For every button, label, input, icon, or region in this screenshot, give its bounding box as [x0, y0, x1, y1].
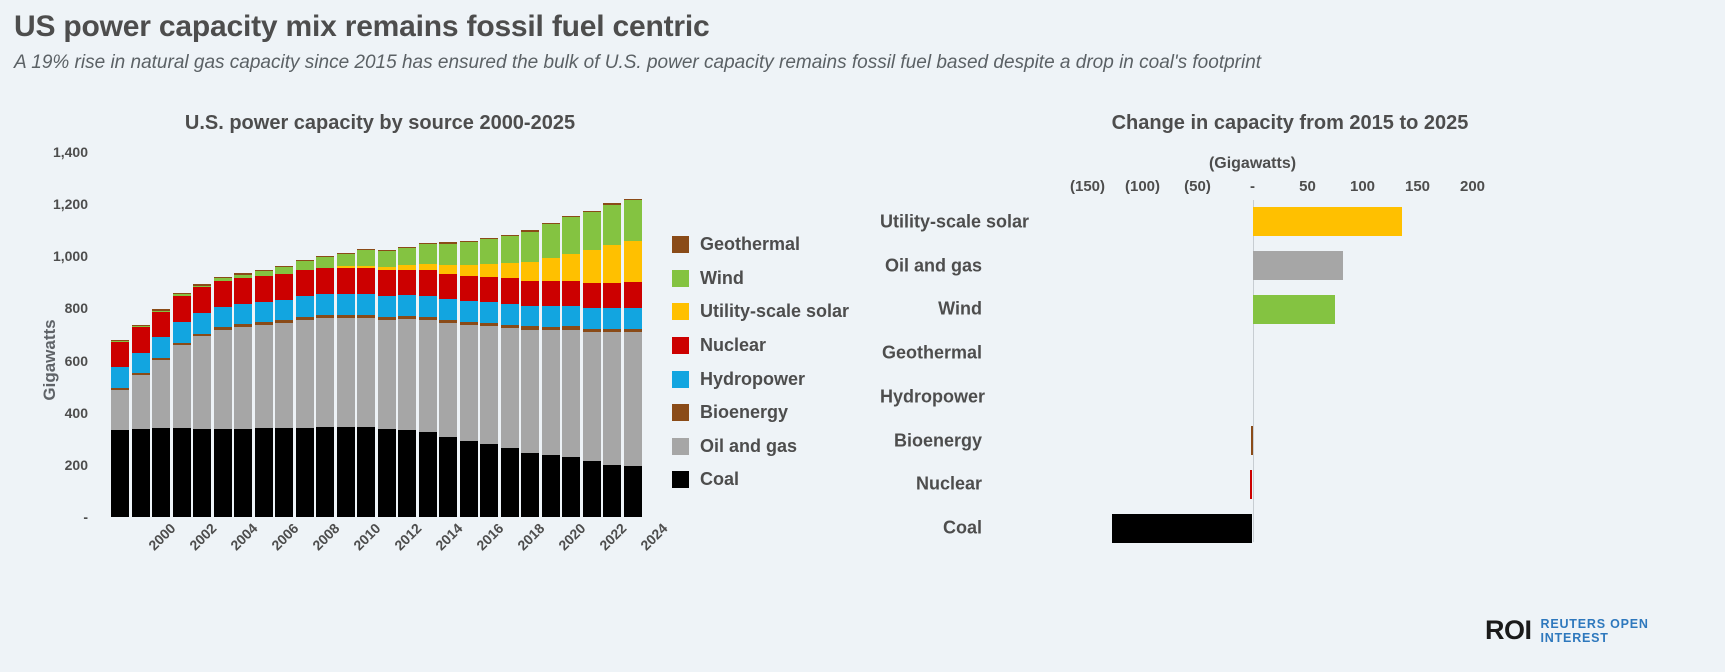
- bar-segment-nuclear: [337, 268, 355, 294]
- bar-segment-wind: [419, 244, 437, 263]
- bar-segment-coal: [439, 437, 457, 517]
- bar-segment-nuclear: [255, 276, 273, 302]
- y-tick-label: 800: [18, 300, 88, 316]
- category-label: Hydropower: [880, 386, 982, 407]
- bar-segment-oil-and-gas: [296, 320, 314, 428]
- bar-segment-wind: [357, 250, 375, 266]
- legend-item[interactable]: Geothermal: [672, 228, 849, 262]
- bar-segment-hydropower: [357, 294, 375, 315]
- y-tick-label: 400: [18, 405, 88, 421]
- bar-segment-hydropower: [439, 299, 457, 320]
- stacked-bar: [439, 152, 457, 517]
- stacked-bar: [521, 152, 539, 517]
- bar-segment-wind: [193, 286, 211, 288]
- right-tick-label: (50): [1184, 178, 1211, 195]
- bar-segment-bioenergy: [521, 326, 539, 329]
- bar-segment-hydropower: [296, 296, 314, 317]
- bar-segment-coal: [562, 457, 580, 517]
- stacked-bar: [480, 152, 498, 517]
- bar-segment-utility-scale-solar: [357, 266, 375, 268]
- bar-segment-bioenergy: [316, 315, 334, 318]
- change-bar-wind: [1253, 295, 1336, 324]
- change-bar-bioenergy: [1251, 426, 1253, 455]
- legend-label: Geothermal: [700, 234, 800, 255]
- bar-segment-geothermal: [132, 325, 150, 326]
- y-tick-label: 1,200: [18, 196, 88, 212]
- bar-segment-nuclear: [296, 270, 314, 296]
- bar-segment-geothermal: [398, 247, 416, 248]
- legend-item[interactable]: Bioenergy: [672, 396, 849, 430]
- bar-segment-bioenergy: [357, 315, 375, 318]
- page-title: US power capacity mix remains fossil fue…: [14, 10, 709, 44]
- bar-segment-wind: [398, 248, 416, 265]
- bar-segment-utility-scale-solar: [480, 264, 498, 277]
- bar-segment-nuclear: [357, 268, 375, 295]
- legend-swatch-icon: [672, 404, 689, 421]
- bar-segment-wind: [562, 217, 580, 254]
- category-label: Wind: [880, 299, 982, 320]
- bar-segment-geothermal: [501, 235, 519, 236]
- bar-segment-hydropower: [214, 307, 232, 328]
- legend-label: Wind: [700, 268, 744, 289]
- brand-line-1: REUTERS OPEN: [1541, 617, 1649, 631]
- infographic-root: US power capacity mix remains fossil fue…: [0, 0, 1725, 672]
- stacked-bar: [542, 152, 560, 517]
- bar-segment-bioenergy: [624, 329, 642, 332]
- bar-segment-coal: [316, 427, 334, 517]
- y-tick-label: 1,000: [18, 248, 88, 264]
- bar-segment-utility-scale-solar: [603, 245, 621, 283]
- page-subtitle: A 19% rise in natural gas capacity since…: [14, 52, 1261, 74]
- bar-segment-hydropower: [542, 306, 560, 327]
- legend-label: Coal: [700, 469, 739, 490]
- bar-segment-oil-and-gas: [501, 328, 519, 448]
- bar-segment-oil-and-gas: [398, 319, 416, 430]
- bar-segment-utility-scale-solar: [583, 250, 601, 282]
- stacked-bar: [275, 152, 293, 517]
- bar-segment-oil-and-gas: [603, 332, 621, 465]
- bar-segment-bioenergy: [173, 343, 191, 346]
- stacked-bar: [419, 152, 437, 517]
- bar-segment-nuclear: [460, 276, 478, 302]
- right-axis-ticks: (150)(100)(50)-50100150200: [880, 178, 1725, 200]
- bar-segment-wind: [255, 271, 273, 275]
- bar-segment-nuclear: [132, 327, 150, 353]
- bar-segment-oil-and-gas: [480, 326, 498, 443]
- category-label: Nuclear: [880, 474, 982, 495]
- x-tick-label: 2024: [637, 520, 670, 553]
- legend-swatch-icon: [672, 438, 689, 455]
- bar-segment-hydropower: [255, 302, 273, 323]
- bar-segment-oil-and-gas: [111, 390, 129, 430]
- legend-item[interactable]: Oil and gas: [672, 430, 849, 464]
- bar-segment-utility-scale-solar: [501, 263, 519, 278]
- bar-segment-oil-and-gas: [521, 330, 539, 453]
- right-tick-label: (150): [1070, 178, 1105, 195]
- bar-segment-bioenergy: [275, 320, 293, 323]
- bar-segment-hydropower: [316, 294, 334, 315]
- bar-segment-oil-and-gas: [316, 318, 334, 427]
- right-tick-label: 100: [1350, 178, 1375, 195]
- bar-segment-nuclear: [624, 282, 642, 307]
- bar-segment-bioenergy: [152, 358, 170, 360]
- bar-segment-oil-and-gas: [624, 332, 642, 466]
- unit-label: (Gigawatts): [1153, 155, 1353, 173]
- legend-label: Hydropower: [700, 369, 805, 390]
- bar-segment-bioenergy: [214, 327, 232, 330]
- bar-segment-nuclear: [173, 296, 191, 322]
- bar-segment-wind: [152, 311, 170, 312]
- bar-segment-wind: [542, 224, 560, 259]
- bar-segment-hydropower: [419, 296, 437, 317]
- bar-segment-coal: [152, 428, 170, 517]
- bar-segment-geothermal: [624, 199, 642, 200]
- bar-segment-oil-and-gas: [419, 320, 437, 433]
- x-tick-label: 2004: [227, 520, 260, 553]
- bar-segment-nuclear: [583, 283, 601, 308]
- bar-segment-wind: [173, 294, 191, 296]
- bar-segment-wind: [316, 257, 334, 267]
- x-tick-label: 2018: [514, 520, 547, 553]
- bar-segment-wind: [439, 244, 457, 265]
- bar-segment-coal: [357, 427, 375, 517]
- right-tick-label: 150: [1405, 178, 1430, 195]
- bar-segment-coal: [419, 432, 437, 517]
- bar-segment-bioenergy: [234, 324, 252, 327]
- stacked-bar: [234, 152, 252, 517]
- stacked-bar: [214, 152, 232, 517]
- bar-segment-hydropower: [152, 337, 170, 358]
- category-label: Utility-scale solar: [880, 211, 982, 232]
- bar-segment-coal: [398, 430, 416, 517]
- stacked-bar: [316, 152, 334, 517]
- bar-segment-hydropower: [398, 295, 416, 316]
- bar-segment-nuclear: [542, 281, 560, 306]
- brand-logo: ROI REUTERS OPEN INTEREST: [1485, 615, 1649, 646]
- bar-segment-hydropower: [337, 294, 355, 315]
- legend-item[interactable]: Nuclear: [672, 329, 849, 363]
- bar-segment-hydropower: [521, 306, 539, 327]
- bar-segment-utility-scale-solar: [419, 264, 437, 270]
- bar-segment-hydropower: [378, 296, 396, 317]
- bar-segment-geothermal: [562, 216, 580, 217]
- bar-segment-geothermal: [480, 238, 498, 239]
- bar-segment-hydropower: [193, 313, 211, 334]
- x-tick-label: 2014: [432, 520, 465, 553]
- legend-label: Oil and gas: [700, 436, 797, 457]
- bar-segment-coal: [193, 429, 211, 517]
- legend-item[interactable]: Hydropower: [672, 362, 849, 396]
- bar-segment-hydropower: [562, 306, 580, 327]
- right-chart-title: Change in capacity from 2015 to 2025: [940, 112, 1640, 135]
- bar-segment-utility-scale-solar: [521, 262, 539, 281]
- bar-segment-coal: [542, 455, 560, 517]
- bar-segment-coal: [275, 428, 293, 517]
- legend-item[interactable]: Utility-scale solar: [672, 295, 849, 329]
- bar-segment-wind: [624, 200, 642, 241]
- bar-segment-coal: [255, 428, 273, 517]
- stacked-bar: [132, 152, 150, 517]
- bar-segment-coal: [521, 453, 539, 517]
- bar-segment-geothermal: [439, 242, 457, 243]
- bar-segment-nuclear: [234, 278, 252, 304]
- y-tick-label: -: [18, 509, 88, 525]
- legend-label: Nuclear: [700, 335, 766, 356]
- bar-segment-wind: [583, 212, 601, 251]
- bar-segment-wind: [214, 278, 232, 281]
- legend-swatch-icon: [672, 371, 689, 388]
- bar-segment-utility-scale-solar: [439, 265, 457, 274]
- bar-segment-coal: [624, 466, 642, 517]
- x-tick-label: 2012: [391, 520, 424, 553]
- stacked-bar: [603, 152, 621, 517]
- bar-segment-geothermal: [296, 260, 314, 261]
- bar-segment-oil-and-gas: [583, 332, 601, 462]
- bar-segment-nuclear: [501, 278, 519, 304]
- y-tick-label: 600: [18, 353, 88, 369]
- bar-segment-oil-and-gas: [460, 325, 478, 440]
- stacked-bar: [193, 152, 211, 517]
- bar-segment-geothermal: [357, 249, 375, 250]
- stacked-bar: [562, 152, 580, 517]
- bar-segment-utility-scale-solar: [378, 267, 396, 270]
- right-tick-label: -: [1250, 178, 1255, 195]
- x-tick-label: 2006: [268, 520, 301, 553]
- bar-segment-nuclear: [111, 342, 129, 367]
- bar-segment-coal: [296, 428, 314, 517]
- bar-segment-bioenergy: [542, 327, 560, 330]
- stacked-bar: [111, 152, 129, 517]
- change-bar-utility-scale-solar: [1253, 207, 1403, 236]
- x-tick-label: 2020: [555, 520, 588, 553]
- bar-segment-wind: [132, 326, 150, 327]
- bar-segment-oil-and-gas: [234, 327, 252, 429]
- bar-segment-wind: [378, 251, 396, 267]
- legend-label: Utility-scale solar: [700, 301, 849, 322]
- stacked-bar: [501, 152, 519, 517]
- bar-segment-wind: [234, 275, 252, 278]
- bar-segment-geothermal: [378, 250, 396, 251]
- bar-segment-coal: [337, 427, 355, 517]
- bar-segment-coal: [111, 430, 129, 517]
- category-label: Oil and gas: [880, 255, 982, 276]
- y-tick-label: 1,400: [18, 144, 88, 160]
- x-tick-label: 2000: [145, 520, 178, 553]
- bar-segment-nuclear: [398, 270, 416, 296]
- legend-swatch-icon: [672, 303, 689, 320]
- bar-segment-geothermal: [214, 277, 232, 278]
- bar-segment-geothermal: [193, 284, 211, 285]
- bar-segment-geothermal: [460, 241, 478, 242]
- stacked-bar: [255, 152, 273, 517]
- change-bar-coal: [1112, 514, 1253, 543]
- bar-segment-wind: [501, 236, 519, 263]
- bar-segment-nuclear: [316, 268, 334, 294]
- bar-segment-geothermal: [521, 230, 539, 231]
- bar-segment-bioenergy: [296, 317, 314, 320]
- category-label: Bioenergy: [880, 430, 982, 451]
- right-tick-label: (100): [1125, 178, 1160, 195]
- bar-segment-oil-and-gas: [193, 336, 211, 428]
- bar-segment-oil-and-gas: [152, 360, 170, 428]
- right-tick-label: 50: [1299, 178, 1316, 195]
- bar-segment-coal: [603, 465, 621, 517]
- bar-segment-bioenergy: [193, 334, 211, 337]
- stacked-bar: [583, 152, 601, 517]
- bar-segment-bioenergy: [132, 373, 150, 375]
- bar-segment-nuclear: [214, 281, 232, 307]
- bar-segment-oil-and-gas: [439, 323, 457, 437]
- bar-segment-bioenergy: [562, 326, 580, 329]
- stacked-bar: [624, 152, 642, 517]
- bar-segment-bioenergy: [480, 323, 498, 326]
- category-label: Geothermal: [880, 343, 982, 364]
- brand-line-2: INTEREST: [1541, 631, 1649, 645]
- bar-segment-hydropower: [132, 353, 150, 374]
- legend-item[interactable]: Coal: [672, 463, 849, 497]
- bar-segment-nuclear: [480, 277, 498, 303]
- left-chart-panel: U.S. power capacity by source 2000-2025 …: [0, 100, 880, 620]
- bar-segment-hydropower: [624, 308, 642, 329]
- legend-label: Bioenergy: [700, 402, 788, 423]
- legend-swatch-icon: [672, 270, 689, 287]
- bar-segment-utility-scale-solar: [398, 265, 416, 269]
- diverging-bar-plot: Utility-scale solarOil and gasWindGeothe…: [880, 200, 1725, 550]
- bar-segment-geothermal: [583, 211, 601, 212]
- bar-segment-utility-scale-solar: [460, 265, 478, 276]
- left-chart-title: U.S. power capacity by source 2000-2025: [120, 112, 640, 135]
- roi-wordmark: ROI: [1485, 615, 1532, 646]
- legend-swatch-icon: [672, 471, 689, 488]
- bar-segment-utility-scale-solar: [562, 254, 580, 281]
- x-tick-label: 2022: [596, 520, 629, 553]
- bar-segment-coal: [480, 444, 498, 517]
- bar-segment-oil-and-gas: [214, 330, 232, 429]
- bar-segment-wind: [480, 239, 498, 264]
- bar-segment-coal: [132, 429, 150, 517]
- right-chart-panel: Change in capacity from 2015 to 2025 (Gi…: [880, 100, 1725, 620]
- bar-segment-oil-and-gas: [132, 375, 150, 428]
- stacked-bar: [378, 152, 396, 517]
- bar-segment-nuclear: [193, 287, 211, 313]
- bar-segment-bioenergy: [583, 329, 601, 332]
- legend: GeothermalWindUtility-scale solarNuclear…: [672, 228, 849, 497]
- bar-segment-bioenergy: [255, 322, 273, 325]
- bar-segment-wind: [460, 242, 478, 265]
- bar-segment-bioenergy: [603, 329, 621, 332]
- bar-segment-utility-scale-solar: [337, 266, 355, 267]
- bar-segment-geothermal: [111, 340, 129, 341]
- legend-swatch-icon: [672, 337, 689, 354]
- bar-segment-hydropower: [480, 302, 498, 323]
- bar-segment-bioenergy: [439, 320, 457, 323]
- stacked-bar: [173, 152, 191, 517]
- bar-segment-utility-scale-solar: [542, 258, 560, 281]
- bar-segment-oil-and-gas: [562, 330, 580, 457]
- bar-segment-nuclear: [603, 283, 621, 308]
- bar-segment-nuclear: [275, 274, 293, 300]
- bar-segment-wind: [296, 261, 314, 270]
- bar-segment-geothermal: [275, 266, 293, 267]
- bar-segment-oil-and-gas: [255, 325, 273, 429]
- bar-segment-oil-and-gas: [275, 323, 293, 428]
- bar-segment-geothermal: [316, 256, 334, 257]
- stacked-bar: [337, 152, 355, 517]
- bar-segment-hydropower: [173, 322, 191, 343]
- legend-swatch-icon: [672, 236, 689, 253]
- bar-segment-oil-and-gas: [357, 318, 375, 426]
- bar-segment-wind: [337, 254, 355, 266]
- bar-segment-geothermal: [419, 243, 437, 244]
- bar-segment-bioenergy: [501, 325, 519, 328]
- bar-segment-nuclear: [378, 270, 396, 296]
- bar-segment-coal: [460, 441, 478, 517]
- bar-segment-bioenergy: [337, 315, 355, 318]
- bar-segment-oil-and-gas: [337, 318, 355, 427]
- stacked-bar-plot: [110, 152, 643, 517]
- bar-segment-hydropower: [583, 308, 601, 329]
- legend-item[interactable]: Wind: [672, 262, 849, 296]
- stacked-bar: [296, 152, 314, 517]
- bar-segment-coal: [378, 429, 396, 517]
- bar-segment-bioenergy: [378, 317, 396, 320]
- bar-segment-geothermal: [255, 270, 273, 271]
- stacked-bar: [152, 152, 170, 517]
- bar-segment-hydropower: [275, 300, 293, 321]
- bar-segment-coal: [214, 429, 232, 517]
- bar-segment-hydropower: [460, 301, 478, 322]
- x-tick-label: 2010: [350, 520, 383, 553]
- bar-segment-hydropower: [111, 367, 129, 388]
- bar-segment-hydropower: [603, 308, 621, 329]
- bar-segment-geothermal: [152, 309, 170, 310]
- x-axis-ticks: 2000200220042006200820102012201420162018…: [110, 520, 643, 610]
- x-tick-label: 2016: [473, 520, 506, 553]
- bar-segment-oil-and-gas: [173, 345, 191, 428]
- bar-segment-oil-and-gas: [542, 330, 560, 455]
- y-tick-label: 200: [18, 457, 88, 473]
- bar-segment-bioenergy: [398, 316, 416, 319]
- bar-segment-coal: [501, 448, 519, 517]
- bar-segment-nuclear: [562, 281, 580, 306]
- bar-segment-wind: [603, 205, 621, 245]
- bar-segment-bioenergy: [419, 317, 437, 320]
- bar-segment-wind: [521, 232, 539, 263]
- bar-segment-geothermal: [542, 223, 560, 224]
- x-tick-label: 2008: [309, 520, 342, 553]
- bar-segment-nuclear: [152, 312, 170, 338]
- change-bar-oil-and-gas: [1253, 251, 1343, 280]
- bar-segment-geothermal: [337, 253, 355, 254]
- bar-segment-oil-and-gas: [378, 320, 396, 429]
- bar-segment-coal: [173, 428, 191, 517]
- bar-segment-coal: [583, 461, 601, 517]
- change-bar-nuclear: [1250, 470, 1252, 499]
- bar-segment-wind: [275, 267, 293, 274]
- stacked-bar: [398, 152, 416, 517]
- right-tick-label: 200: [1460, 178, 1485, 195]
- bar-segment-hydropower: [501, 304, 519, 325]
- bar-segment-utility-scale-solar: [624, 241, 642, 283]
- bar-segment-geothermal: [603, 203, 621, 204]
- bar-segment-nuclear: [439, 274, 457, 300]
- bar-segment-hydropower: [234, 304, 252, 325]
- bar-segment-nuclear: [419, 270, 437, 296]
- bar-segment-geothermal: [173, 293, 191, 294]
- bar-segment-bioenergy: [460, 322, 478, 325]
- stacked-bar: [460, 152, 478, 517]
- category-label: Coal: [880, 518, 982, 539]
